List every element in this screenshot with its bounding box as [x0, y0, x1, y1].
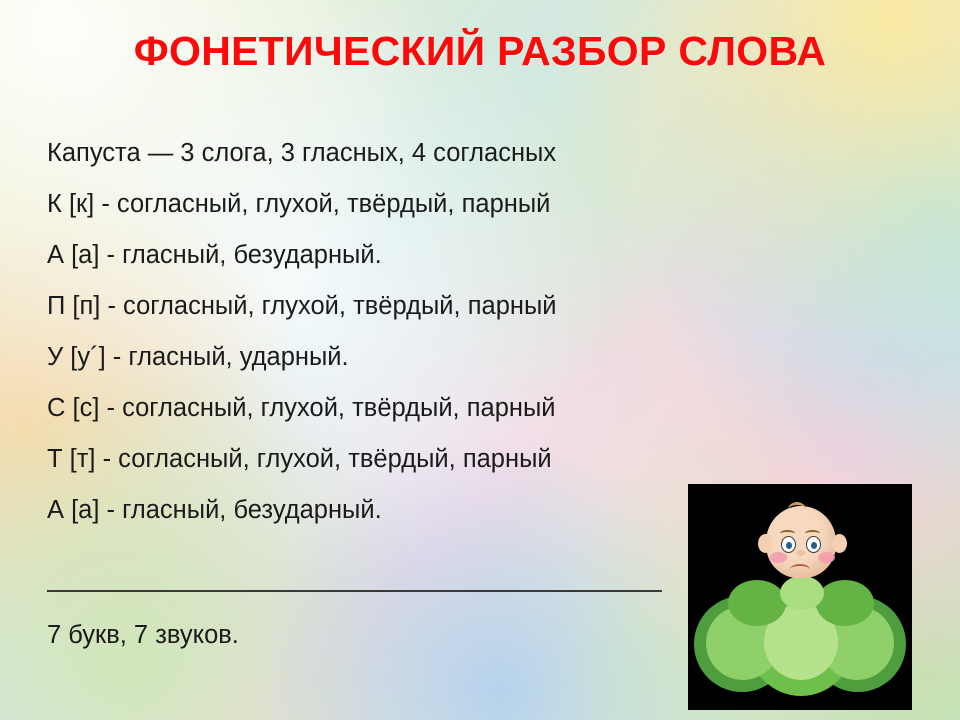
- list-item: С [с] - согласный, глухой, твёрдый, парн…: [47, 383, 913, 434]
- baby-pupil-icon: [811, 542, 817, 549]
- baby-mouth-icon: [790, 564, 810, 575]
- analysis-list: Капуста — 3 слога, 3 гласных, 4 согласны…: [47, 128, 913, 536]
- baby-nose-icon: [796, 550, 805, 556]
- cabbage-leaf-icon: [728, 580, 786, 626]
- list-item: Т [т] - согласный, глухой, твёрдый, парн…: [47, 434, 913, 485]
- baby-eye-icon: [806, 536, 821, 553]
- divider: [47, 590, 662, 592]
- slide-canvas: ФОНЕТИЧЕСКИЙ РАЗБОР СЛОВА Капуста — 3 сл…: [0, 0, 960, 720]
- cabbage-baby-illustration: [688, 484, 912, 710]
- baby-cheek-icon: [818, 552, 835, 563]
- baby-pupil-icon: [786, 542, 792, 549]
- baby-cheek-icon: [770, 552, 787, 563]
- list-item: У [у´] - гласный, ударный.: [47, 332, 913, 383]
- cabbage-leaf-icon: [816, 580, 874, 626]
- list-item: Капуста — 3 слога, 3 гласных, 4 согласны…: [47, 128, 913, 179]
- list-item: К [к] - согласный, глухой, твёрдый, парн…: [47, 179, 913, 230]
- summary-text: 7 букв, 7 звуков.: [47, 610, 239, 661]
- baby-hair-icon: [788, 502, 806, 517]
- page-title: ФОНЕТИЧЕСКИЙ РАЗБОР СЛОВА: [0, 26, 960, 76]
- baby-ear-icon: [832, 534, 847, 553]
- baby-eye-icon: [781, 536, 796, 553]
- list-item: П [п] - согласный, глухой, твёрдый, парн…: [47, 281, 913, 332]
- list-item: А [а] - гласный, безударный.: [47, 230, 913, 281]
- cabbage-leaf-icon: [780, 576, 824, 610]
- baby-ear-icon: [758, 534, 773, 553]
